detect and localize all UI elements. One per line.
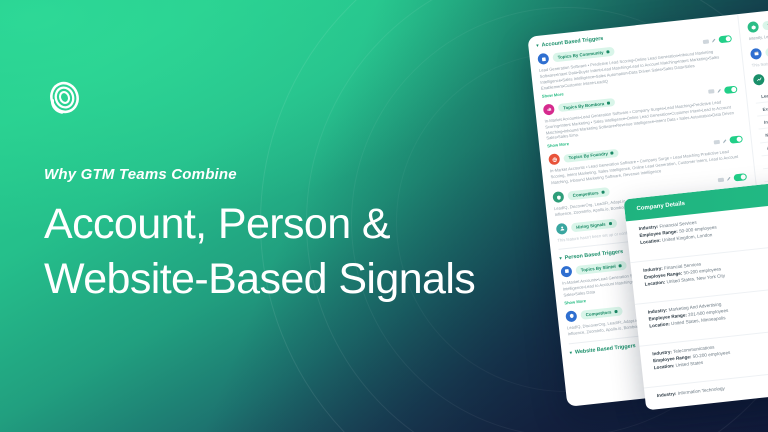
chip-label: Topics By Bombora xyxy=(563,101,604,110)
signal-block-header: Technologies xyxy=(747,11,768,33)
shield-icon xyxy=(552,191,564,203)
trigger-chip[interactable]: Hiring Signals xyxy=(571,219,617,232)
grid-icon xyxy=(614,310,617,313)
app-mockup: ▾ Account Based Triggers Topics By Commu… xyxy=(527,1,768,432)
chip-label: Topics By Slintel xyxy=(581,264,616,273)
page-title: Account, Person & Website-Based Signals xyxy=(44,197,544,307)
hero-content: Why GTM Teams Combine Account, Person & … xyxy=(44,78,544,307)
growth-signal-list: Leadership ChangesExpansionsInvestmentsN… xyxy=(754,80,768,183)
signal-block: EventsThis feature hasn't been set up or… xyxy=(750,38,768,68)
chevron-down-icon: ▾ xyxy=(569,350,572,356)
building-icon xyxy=(560,266,572,278)
globe-icon xyxy=(548,154,560,166)
cube-icon xyxy=(747,21,759,33)
trigger-chip[interactable]: Topics By Slintel xyxy=(575,261,627,275)
grid-icon xyxy=(619,264,622,267)
grid-icon xyxy=(611,152,614,155)
section-title-text: Person Based Triggers xyxy=(564,249,623,261)
grid-icon xyxy=(606,50,609,53)
table-body: Industry: Financial ServicesEmployee Ran… xyxy=(626,194,768,410)
edit-icon[interactable] xyxy=(717,89,721,93)
edit-icon[interactable] xyxy=(723,139,727,143)
trigger-chip[interactable]: Topics By Foundry xyxy=(563,148,619,163)
trigger-actions xyxy=(718,173,748,183)
list-icon[interactable] xyxy=(703,39,709,44)
grid-icon xyxy=(607,101,610,104)
chip-label: Hiring Signals xyxy=(576,222,606,230)
grid-icon xyxy=(608,222,611,225)
edit-icon[interactable] xyxy=(727,176,731,180)
building-icon xyxy=(537,53,549,65)
trigger-chip[interactable]: Topics By Bombora xyxy=(558,98,616,113)
chip-label: Topics By Foundry xyxy=(568,151,608,160)
list-icon[interactable] xyxy=(718,177,724,182)
chart-icon xyxy=(543,103,555,115)
enable-toggle[interactable] xyxy=(733,173,747,181)
chevron-down-icon: ▾ xyxy=(536,43,539,49)
company-details-table: Company Details Intent Signals Industry:… xyxy=(623,172,768,410)
trigger-actions xyxy=(703,35,733,45)
chip-label: Competitors xyxy=(572,190,598,198)
shield-icon xyxy=(565,310,577,322)
list-icon[interactable] xyxy=(714,140,720,145)
chevron-down-icon: ▾ xyxy=(559,256,562,262)
trigger-actions xyxy=(713,136,743,146)
calendar-icon xyxy=(750,48,762,60)
trigger-chip[interactable]: Competitors xyxy=(580,306,623,319)
section-title-text: Website Based Triggers xyxy=(575,343,636,356)
edit-icon[interactable] xyxy=(712,38,716,42)
trend-up-icon xyxy=(753,74,765,86)
hero-kicker: Why GTM Teams Combine xyxy=(44,166,544,183)
hero-banner: Why GTM Teams Combine Account, Person & … xyxy=(0,0,768,432)
trigger-actions xyxy=(708,85,738,95)
enable-toggle[interactable] xyxy=(718,35,732,43)
enable-toggle[interactable] xyxy=(724,85,738,93)
spiral-logo-icon xyxy=(44,78,84,118)
user-icon xyxy=(556,223,568,235)
section-title-text: Account Based Triggers xyxy=(541,36,603,49)
signal-block: Growth SignalsLeadership ChangesExpansio… xyxy=(753,64,768,183)
trigger-chip[interactable]: Competitors xyxy=(567,187,610,200)
signal-block: TechnologiesIntently, LeadIQ, LeadIFt, H… xyxy=(747,11,768,42)
chip-label: Competitors xyxy=(585,309,611,317)
list-icon[interactable] xyxy=(708,89,714,94)
grid-icon xyxy=(601,191,604,194)
chip-label: Topics By Community xyxy=(557,50,603,60)
enable-toggle[interactable] xyxy=(729,136,743,144)
signal-chip[interactable]: Technologies xyxy=(762,17,768,30)
